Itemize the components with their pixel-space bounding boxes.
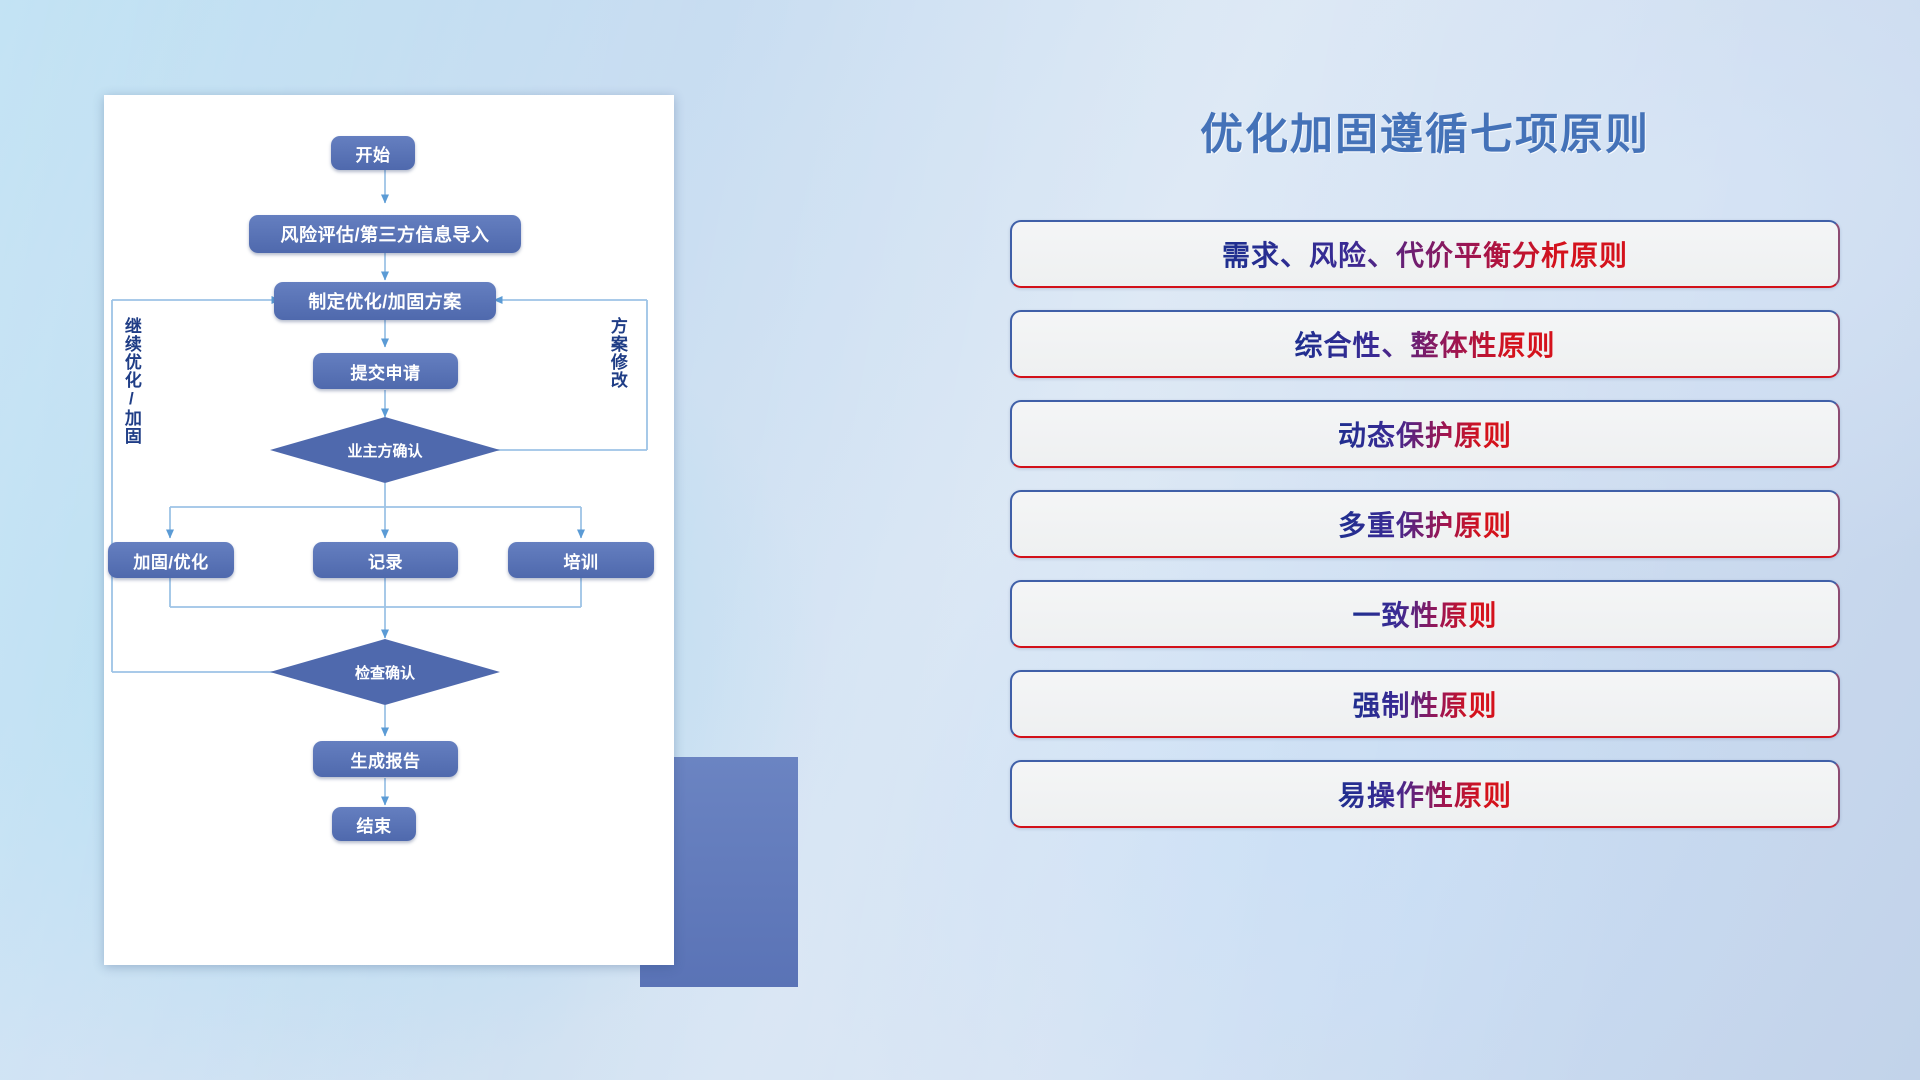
principle-label: 多重保护原则	[1338, 504, 1512, 544]
flow-node-label: 生成报告	[351, 747, 421, 772]
principles-panel: 优化加固遵循七项原则 需求、风险、代价平衡分析原则 综合性、整体性原则 动态保护…	[1010, 100, 1840, 1000]
flow-node-record[interactable]: 记录	[313, 542, 458, 578]
flow-node-end[interactable]: 结束	[332, 807, 416, 841]
flow-node-label: 开始	[356, 141, 391, 166]
principle-label: 易操作性原则	[1338, 774, 1512, 814]
flow-node-label: 业主方确认	[347, 440, 422, 461]
edge-label-continue-optimize: 继续优化/加固	[122, 317, 140, 447]
principle-item-1[interactable]: 需求、风险、代价平衡分析原则	[1010, 220, 1840, 288]
principle-label: 一致性原则	[1352, 594, 1497, 634]
principle-item-2[interactable]: 综合性、整体性原则	[1010, 310, 1840, 378]
flow-node-label: 提交申请	[351, 359, 421, 384]
flow-node-label: 制定优化/加固方案	[308, 288, 462, 314]
principle-label: 综合性、整体性原则	[1294, 324, 1555, 364]
flow-node-training[interactable]: 培训	[508, 542, 654, 578]
flow-node-label: 检查确认	[355, 662, 415, 683]
flow-node-label: 加固/优化	[133, 548, 208, 573]
flowchart-card: 开始 风险评估/第三方信息导入 制定优化/加固方案 提交申请 业主方确认 加固/…	[104, 95, 674, 965]
flow-node-label: 结束	[357, 812, 392, 837]
edge-label-plan-revision: 方案修改	[608, 317, 626, 417]
page-title: 优化加固遵循七项原则	[1010, 100, 1840, 162]
flow-node-label: 记录	[368, 548, 403, 573]
flow-node-risk-assessment[interactable]: 风险评估/第三方信息导入	[249, 215, 521, 253]
principle-item-5[interactable]: 一致性原则	[1010, 580, 1840, 648]
principle-label: 动态保护原则	[1338, 414, 1512, 454]
principle-label: 强制性原则	[1352, 684, 1497, 724]
flow-node-reinforce-optimize[interactable]: 加固/优化	[108, 542, 234, 578]
principle-label: 需求、风险、代价平衡分析原则	[1222, 234, 1628, 274]
principle-item-7[interactable]: 易操作性原则	[1010, 760, 1840, 828]
principle-item-3[interactable]: 动态保护原则	[1010, 400, 1840, 468]
flow-node-label: 培训	[564, 548, 599, 573]
flow-node-generate-report[interactable]: 生成报告	[313, 741, 458, 777]
principle-item-6[interactable]: 强制性原则	[1010, 670, 1840, 738]
flow-node-make-plan[interactable]: 制定优化/加固方案	[274, 282, 496, 320]
flow-node-start[interactable]: 开始	[331, 136, 415, 170]
flow-node-label: 风险评估/第三方信息导入	[281, 221, 490, 247]
flow-node-submit-application[interactable]: 提交申请	[313, 353, 458, 389]
principle-item-4[interactable]: 多重保护原则	[1010, 490, 1840, 558]
